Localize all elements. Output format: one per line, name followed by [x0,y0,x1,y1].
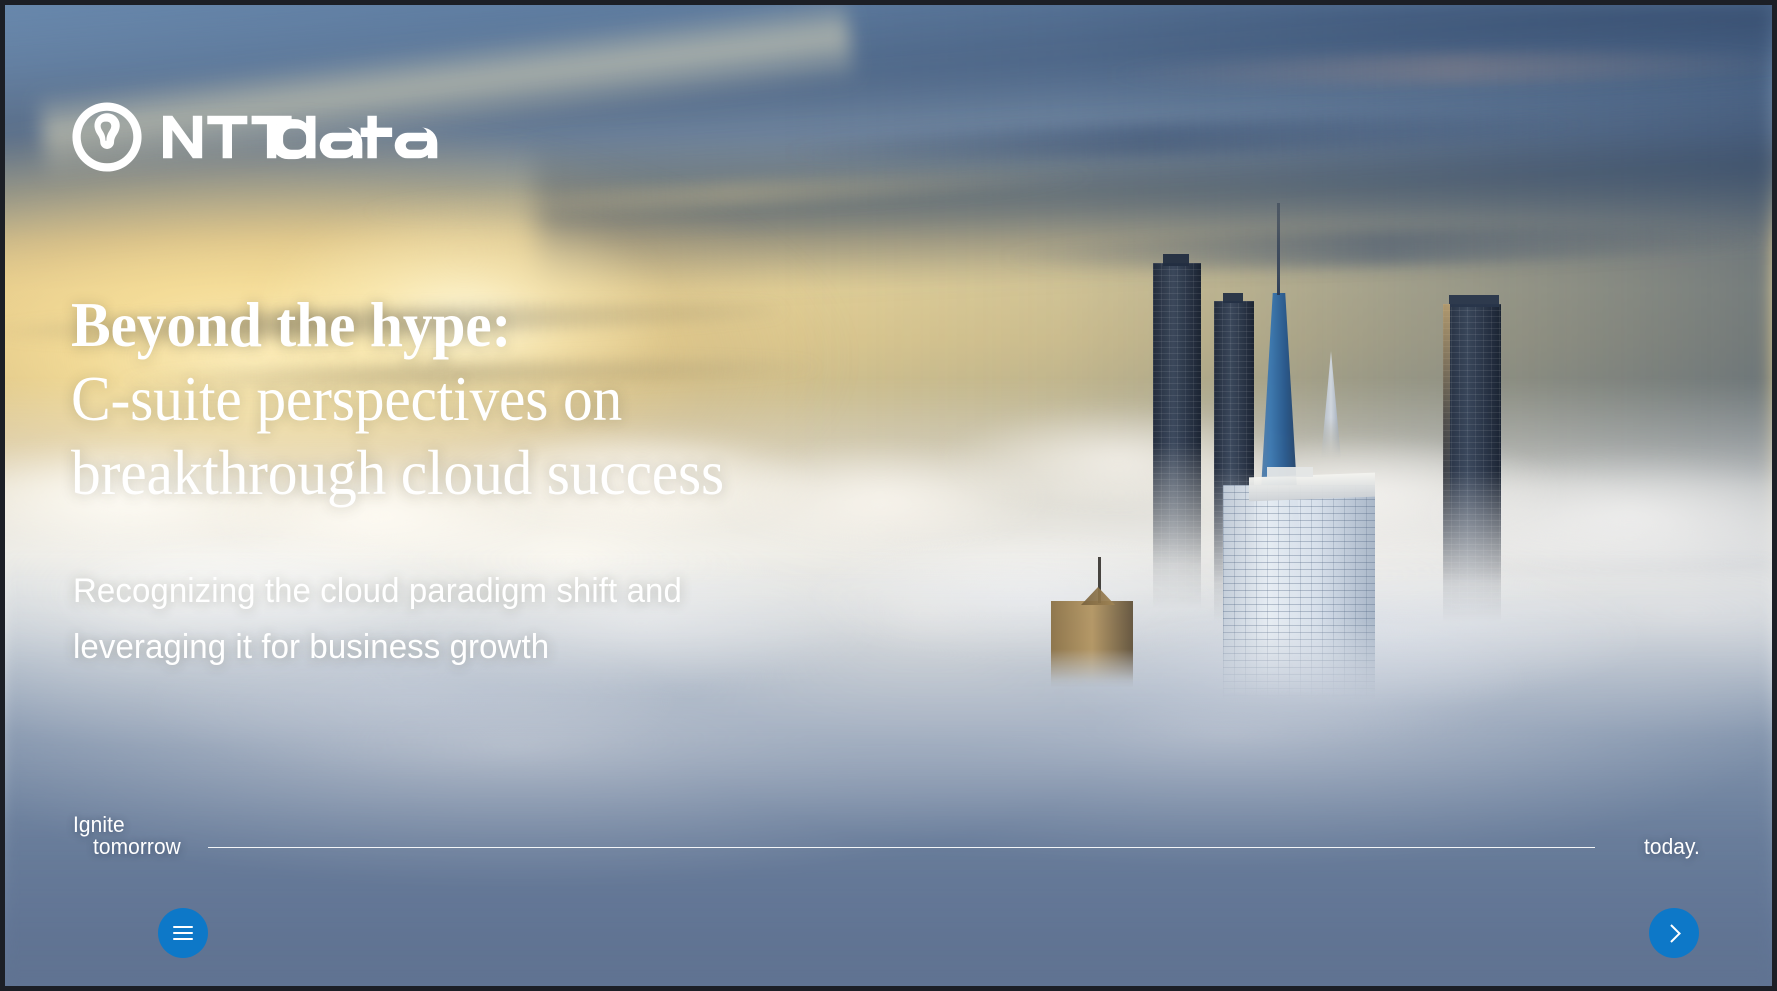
building-tower-right-crown [1449,295,1499,307]
hero-headline: Beyond the hype: C-suite perspectives on… [71,288,773,510]
hamburger-menu-icon [173,926,193,940]
subheadline-line-2: leveraging it for business growth [73,619,682,675]
ntt-data-logo[interactable] [71,101,480,173]
subheadline-line-1: Recognizing the cloud paradigm shift and [73,563,682,619]
ntt-data-wordmark-icon [163,114,480,160]
building-foreground-tower [1223,485,1375,699]
tagline-word-today: today. [1644,835,1700,859]
building-pinnacle [1321,351,1341,459]
brand-tagline: Ignite tomorrow today. [5,813,1772,877]
building-tower-left [1153,263,1201,608]
headline-line-1: Beyond the hype: [71,288,724,362]
building-tower-left-crown [1163,254,1189,266]
presentation-slide: Beyond the hype: C-suite perspectives on… [0,0,1777,991]
chevron-right-icon [1662,924,1680,942]
building-foreground-tower-roof-equipment [1267,467,1313,477]
tagline-rule [208,847,1595,848]
building-one-wtc-spire [1277,203,1280,295]
building-gold-lowrise-crown [1081,587,1115,605]
headline-line-2: C-suite perspectives on [71,362,724,436]
tagline-word-tomorrow: tomorrow [93,835,181,859]
building-tower-right [1443,304,1501,622]
building-gold-lowrise [1051,601,1133,687]
next-slide-button[interactable] [1649,908,1699,958]
hero-subheadline: Recognizing the cloud paradigm shift and… [73,563,682,675]
building-tower-right-sunlit-edge [1443,304,1450,534]
ntt-data-circle-mark-icon [71,101,143,173]
building-tower-left-2-crown [1223,293,1243,303]
menu-button[interactable] [158,908,208,958]
headline-line-3: breakthrough cloud success [71,436,724,510]
